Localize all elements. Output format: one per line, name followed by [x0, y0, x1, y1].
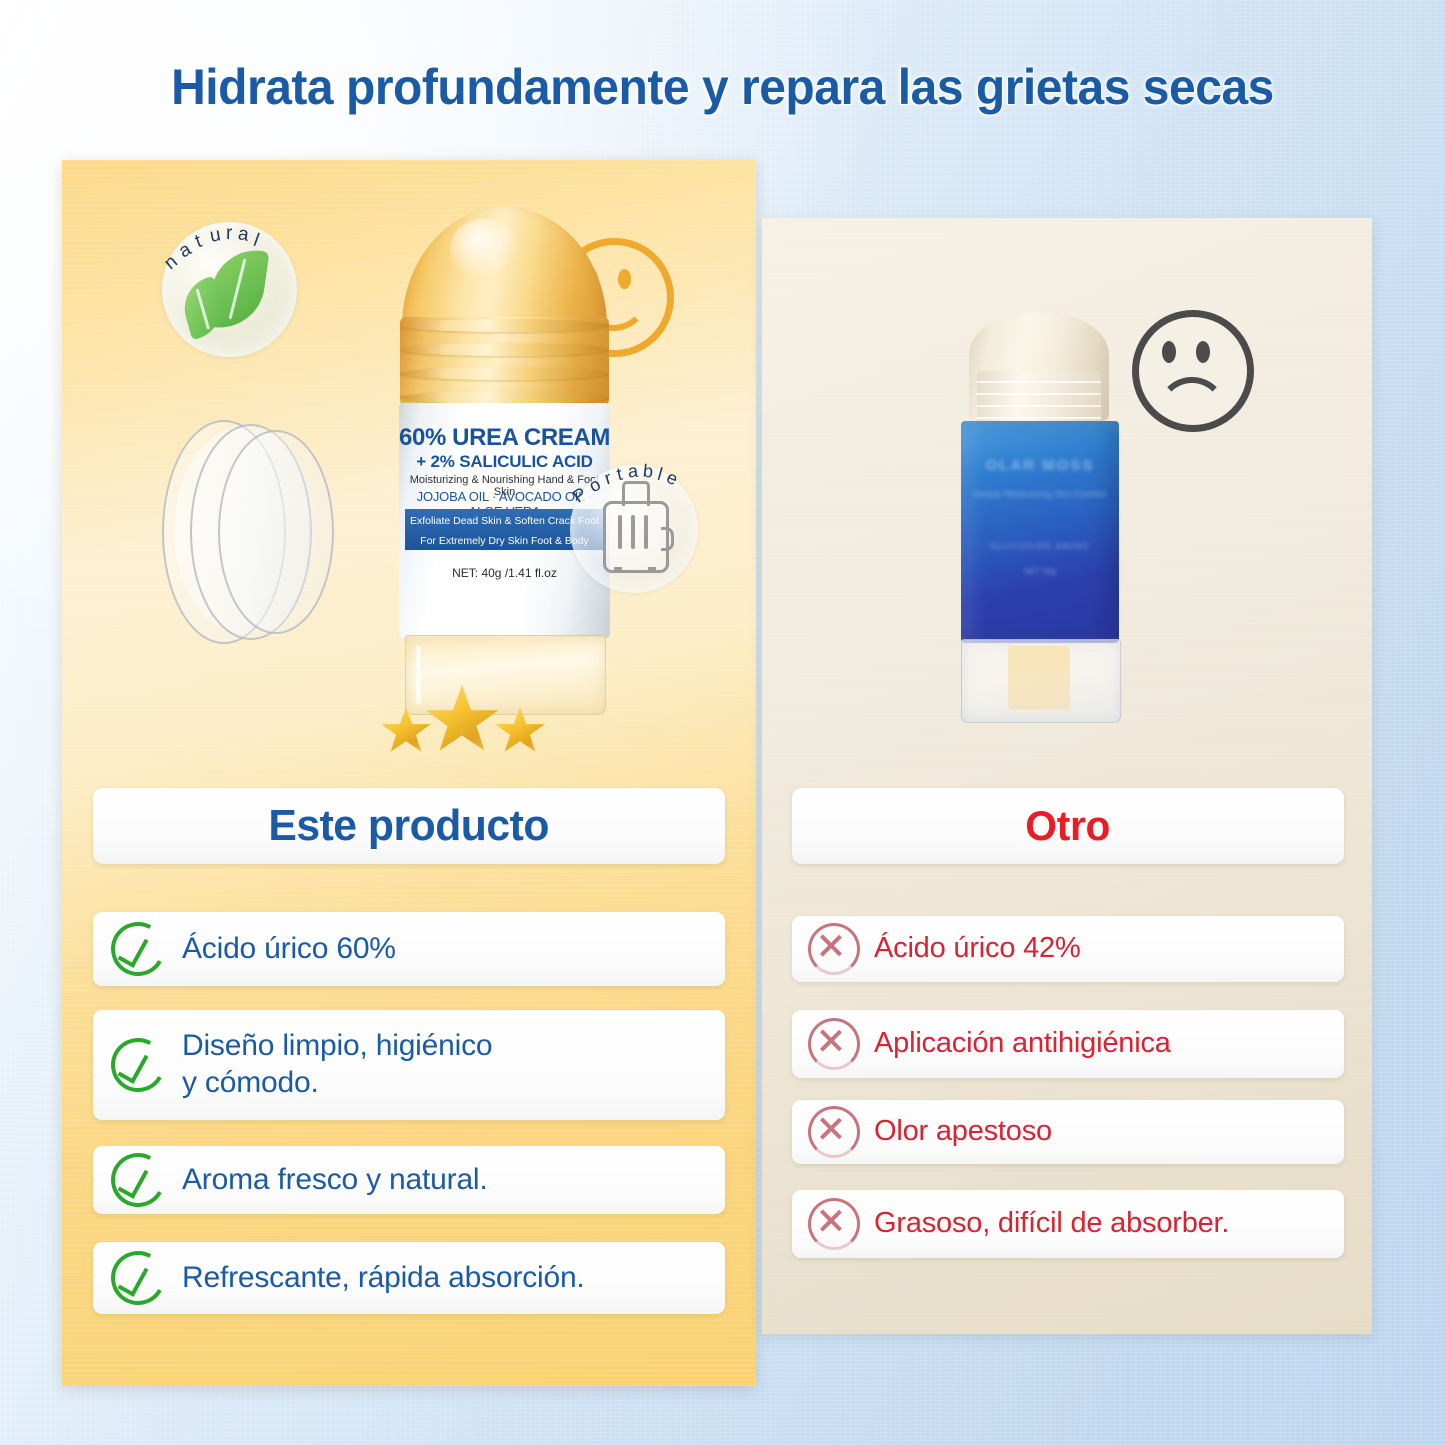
transparent-cap	[162, 420, 337, 645]
x-icon	[808, 1198, 860, 1250]
sad-face-icon	[1132, 310, 1254, 432]
left-feature-row: Refrescante, rápida absorción.	[93, 1242, 725, 1314]
natural-badge-label: n a t u r a l	[158, 216, 308, 286]
check-icon	[105, 1032, 172, 1099]
rating-stars	[362, 685, 562, 755]
right-heading-card: Otro	[792, 788, 1344, 864]
check-icon	[105, 1147, 172, 1214]
left-feature-row: Ácido úrico 60%	[93, 912, 725, 986]
x-icon	[808, 1106, 860, 1158]
product-hero-right: OLAR MOSS Deeply Moisturizing Skin Comfo…	[762, 218, 1372, 748]
star-icon	[380, 707, 432, 756]
right-feature-row: Grasoso, difícil de absorber.	[792, 1190, 1344, 1258]
check-icon	[105, 916, 172, 983]
star-icon	[494, 707, 546, 756]
portable-badge-label: P o r t a b l e	[568, 443, 708, 503]
product-hero-left: n a t u r a l	[62, 160, 756, 760]
left-feature-text: Aroma fresco y natural.	[182, 1162, 488, 1199]
natural-badge: n a t u r a l	[162, 222, 297, 357]
left-feature-text: Ácido úrico 60%	[182, 931, 396, 968]
left-feature-text: Refrescante, rápida absorción.	[182, 1260, 585, 1297]
suitcase-icon	[603, 501, 669, 573]
portable-badge: P o r t a b l e	[570, 465, 698, 593]
x-icon	[808, 923, 860, 975]
page-title: Hidrata profundamente y repara las griet…	[29, 58, 1416, 116]
left-feature-row: Aroma fresco y natural.	[93, 1146, 725, 1214]
competitor-clear-base	[961, 639, 1121, 723]
competitor-label-net: NET 50g	[961, 567, 1119, 576]
right-heading-text: Otro	[1026, 802, 1111, 850]
right-feature-text: Olor apestoso	[874, 1114, 1052, 1149]
label-net-weight: NET: 40g /1.41 fl.oz	[399, 566, 610, 580]
left-feature-text: Diseño limpio, higiénico y cómodo.	[182, 1028, 492, 1101]
x-icon	[808, 1018, 860, 1070]
competitor-product: OLAR MOSS Deeply Moisturizing Skin Comfo…	[947, 313, 1132, 728]
competitor-label-benefit: Deeply Moisturizing Skin Comfort	[961, 487, 1119, 502]
right-feature-row: Olor apestoso	[792, 1100, 1344, 1164]
star-icon	[424, 685, 500, 757]
infographic-canvas: Hidrata profundamente y repara las griet…	[0, 0, 1445, 1445]
right-feature-row: Aplicación antihigiénica	[792, 1010, 1344, 1078]
right-feature-text: Grasoso, difícil de absorber.	[874, 1206, 1229, 1241]
check-icon	[105, 1245, 172, 1312]
left-feature-row: Diseño limpio, higiénico y cómodo.	[93, 1010, 725, 1120]
right-feature-text: Aplicación antihigiénica	[874, 1026, 1171, 1061]
competitor-label-ingredient: GLUCOSIDE AMINO	[961, 541, 1119, 551]
competitor-label-name: OLAR MOSS	[961, 457, 1119, 474]
competitor-label: OLAR MOSS Deeply Moisturizing Skin Comfo…	[961, 421, 1119, 643]
left-heading-text: Este producto	[269, 801, 550, 851]
right-feature-row: Ácido úrico 42%	[792, 916, 1344, 982]
right-feature-text: Ácido úrico 42%	[874, 931, 1081, 966]
golden-cap	[392, 207, 617, 412]
left-heading-card: Este producto	[93, 788, 725, 864]
